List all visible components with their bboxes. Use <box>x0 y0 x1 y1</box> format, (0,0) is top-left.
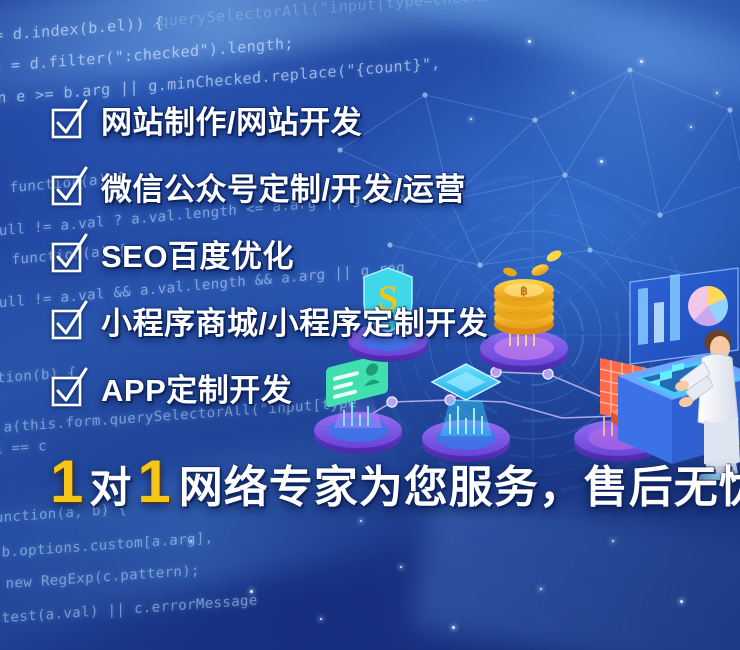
checkbox-checked-icon[interactable] <box>52 176 79 203</box>
checklist-item-label: SEO百度优化 <box>101 241 294 272</box>
checkbox-checked-icon[interactable] <box>52 243 79 270</box>
service-checklist: 网站制作/网站开发 微信公众号定制/开发/运营 SEO百度优化 <box>52 98 692 433</box>
light-beam-bottom-left <box>0 409 476 650</box>
headline-number-first: 1 <box>50 452 83 512</box>
checkbox-checked-icon[interactable] <box>52 377 79 404</box>
promo-headline: 1 对 1 网络专家为您服务，售后无忧！ <box>50 452 740 512</box>
headline-pair-word: 对 <box>89 467 131 509</box>
checkbox-checked-icon[interactable] <box>52 310 79 337</box>
checklist-item-label: APP定制开发 <box>101 375 292 406</box>
checklist-item-wechat[interactable]: 微信公众号定制/开发/运营 <box>52 165 692 214</box>
headline-main-text: 网络专家为您服务，售后无忧！ <box>179 466 740 510</box>
headline-number-second: 1 <box>137 452 170 512</box>
checklist-item-label: 微信公众号定制/开发/运营 <box>101 174 466 205</box>
checklist-item-label: 小程序商城/小程序定制开发 <box>101 308 488 339</box>
light-beam-bottom-right <box>412 488 740 650</box>
checklist-item-website[interactable]: 网站制作/网站开发 <box>52 98 692 147</box>
checklist-item-app[interactable]: APP定制开发 <box>52 366 692 415</box>
promo-banner: .querySelectorAll("input[type=checkbox]"… <box>0 0 740 650</box>
checklist-item-seo[interactable]: SEO百度优化 <box>52 232 692 281</box>
checkbox-checked-icon[interactable] <box>52 109 79 136</box>
checklist-item-miniprogram[interactable]: 小程序商城/小程序定制开发 <box>52 299 692 348</box>
checklist-item-label: 网站制作/网站开发 <box>101 107 362 138</box>
